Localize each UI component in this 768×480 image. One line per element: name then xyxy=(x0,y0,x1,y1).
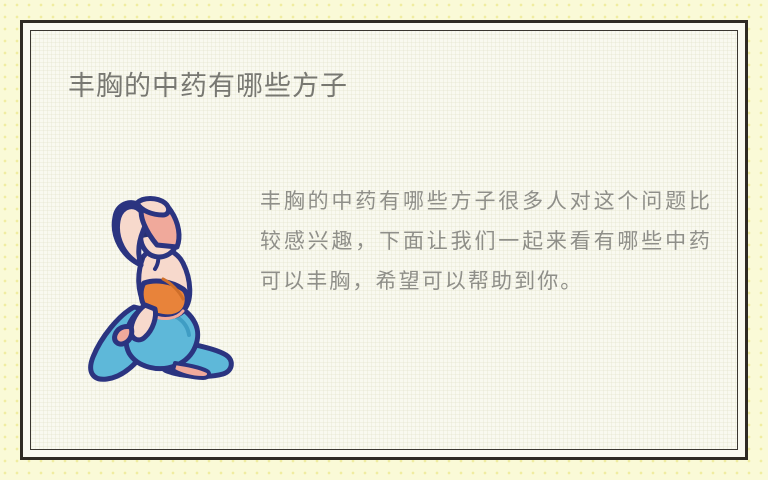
inner-decorative-frame: 丰胸的中药有哪些方子 xyxy=(30,30,738,450)
article-card: 丰胸的中药有哪些方子 xyxy=(0,0,768,480)
article-content: 丰胸的中药有哪些方子 xyxy=(31,31,737,449)
illustration-container xyxy=(56,181,256,392)
yoga-pose-woman-illustration xyxy=(71,187,241,392)
outer-decorative-frame: 丰胸的中药有哪些方子 xyxy=(20,20,748,460)
article-body-row: 丰胸的中药有哪些方子很多人对这个问题比较感兴趣，下面让我们一起来看有哪些中药可以… xyxy=(31,181,737,392)
page-title: 丰胸的中药有哪些方子 xyxy=(68,69,348,103)
article-body-text: 丰胸的中药有哪些方子很多人对这个问题比较感兴趣，下面让我们一起来看有哪些中药可以… xyxy=(260,181,712,301)
